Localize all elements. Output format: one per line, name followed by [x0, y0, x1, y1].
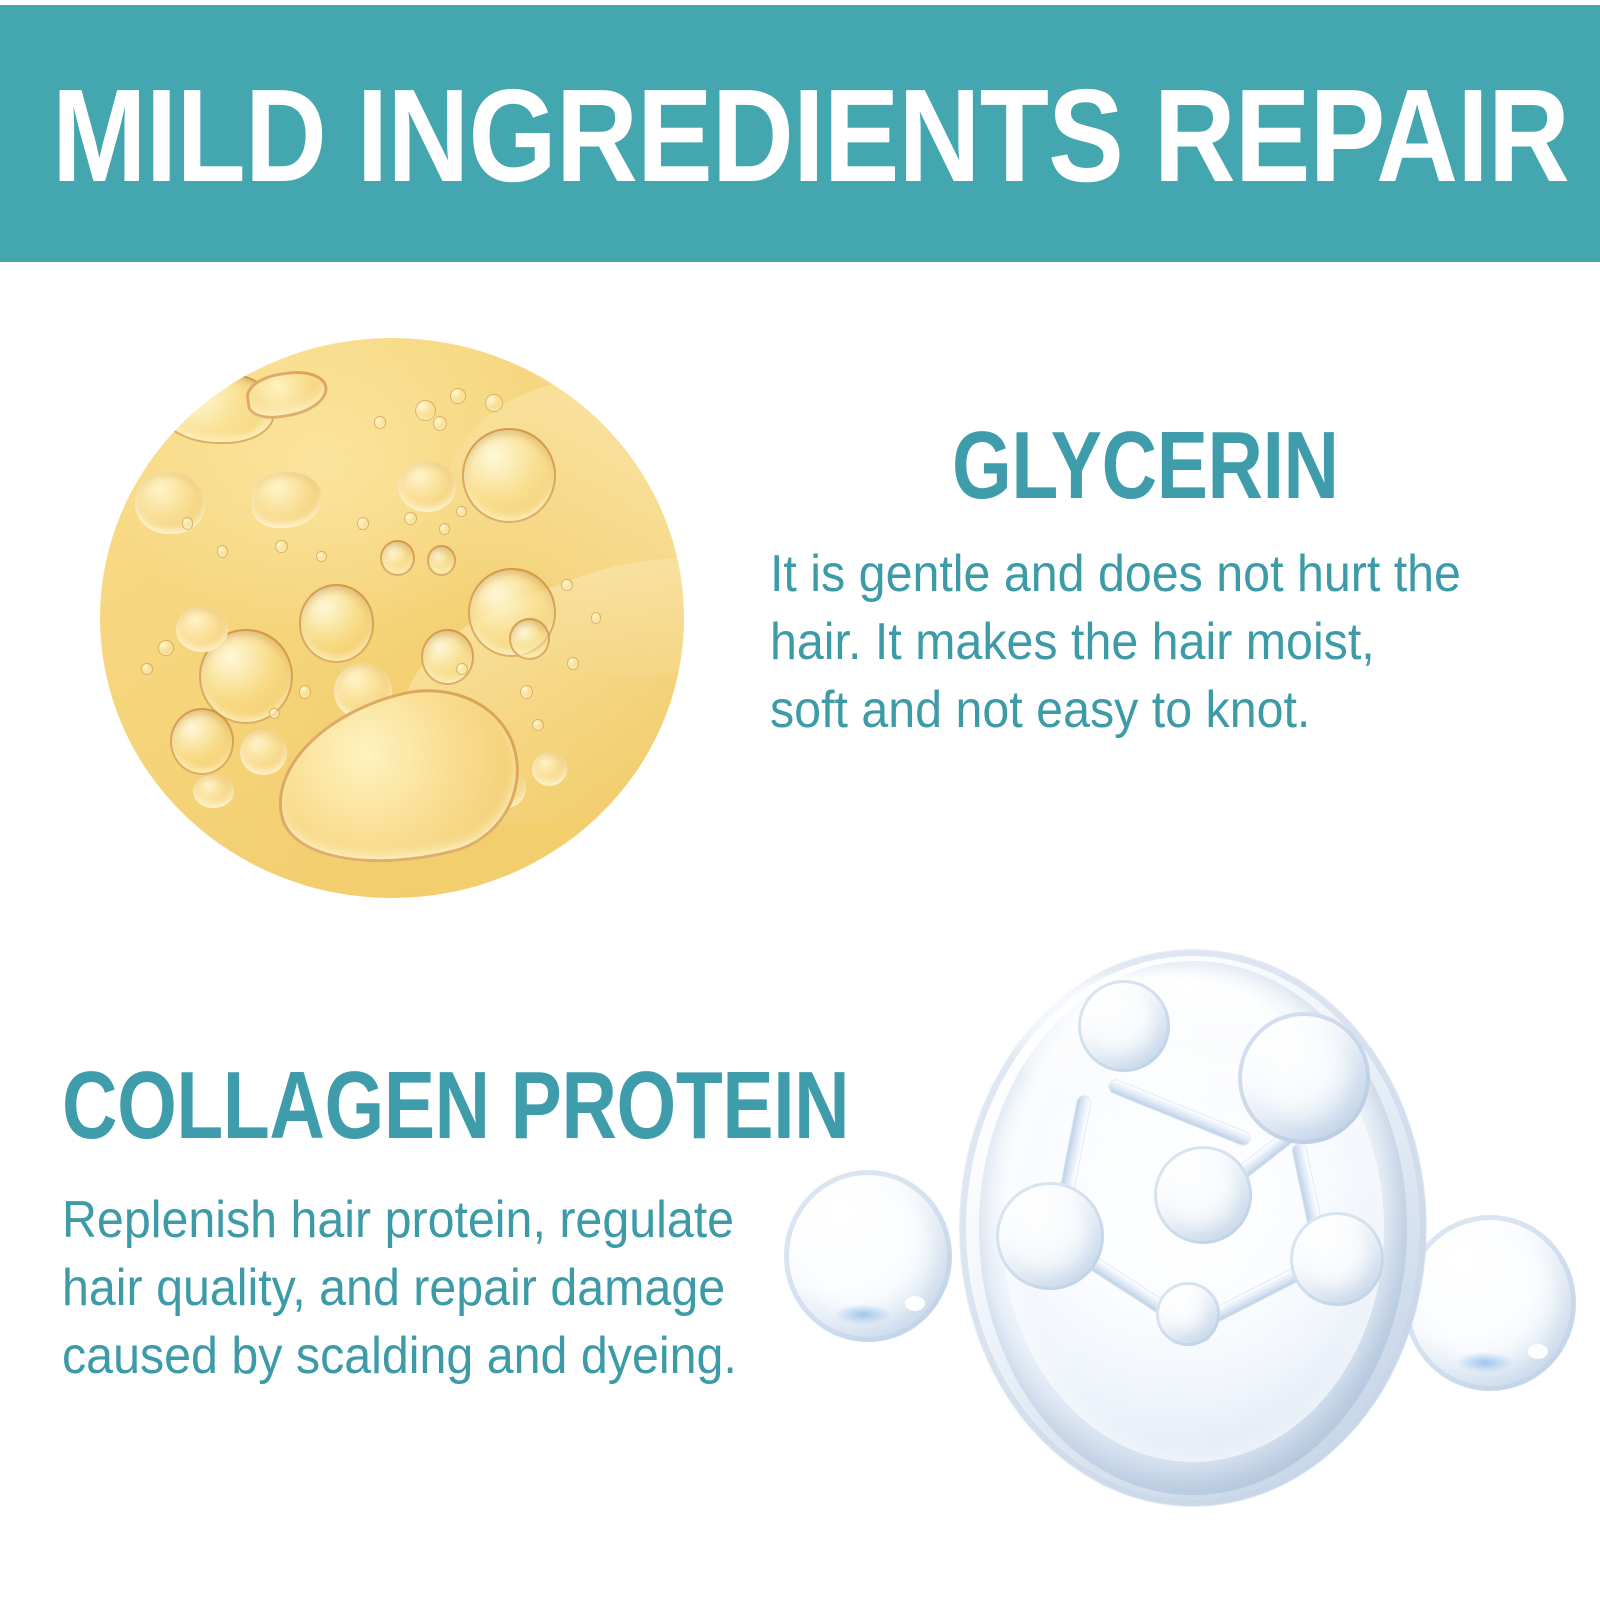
oil-bubble-small — [450, 388, 465, 404]
oil-bubble-small — [567, 657, 579, 669]
molecule-sphere-image — [770, 930, 1590, 1530]
oil-bubble-small — [374, 416, 386, 428]
section-heading-glycerin: GLYCERIN — [952, 418, 1339, 514]
body-line: hair quality, and repair damage — [62, 1254, 825, 1322]
satellite-bubble-left — [784, 1170, 952, 1342]
molecule-atom — [1156, 1282, 1220, 1346]
oil-bubble-small — [485, 394, 503, 412]
oil-droplet — [193, 775, 234, 809]
bubble-blue-tint — [1456, 1352, 1514, 1373]
molecule-atom — [1238, 1012, 1370, 1144]
main-sphere — [960, 950, 1426, 1506]
section-heading-collagen-protein: COLLAGEN PROTEIN — [62, 1058, 849, 1154]
oil-bubble-small — [141, 663, 153, 675]
oil-bubble-small — [520, 685, 533, 698]
bubble-glint — [905, 1296, 925, 1311]
body-line: soft and not easy to knot. — [770, 676, 1570, 744]
oil-bubble-small — [404, 512, 417, 525]
oil-droplet — [176, 607, 229, 652]
oil-droplet — [135, 472, 205, 534]
oil-bubble-small — [357, 517, 369, 529]
body-line: It is gentle and does not hurt the — [770, 540, 1570, 608]
oil-bubble-small — [561, 579, 573, 591]
oil-droplet — [240, 730, 287, 775]
oil-bubble — [509, 618, 550, 660]
oil-bubble-small — [217, 545, 229, 557]
body-line: caused by scalding and dyeing. — [62, 1322, 825, 1390]
page-title: MILD INGREDIENTS REPAIR HAIR — [52, 75, 1351, 197]
bubble-glint — [1528, 1344, 1549, 1360]
oil-bubble-small — [182, 517, 194, 529]
oil-bubble-small — [316, 551, 327, 562]
oil-bubble — [427, 545, 456, 576]
oil-droplet — [398, 461, 456, 511]
infographic-page: MILD INGREDIENTS REPAIR HAIR — [0, 0, 1600, 1600]
oil-bubble-small — [415, 400, 436, 421]
molecule-atom — [996, 1182, 1104, 1290]
oil-bubble-small — [269, 708, 280, 719]
oil-bubble-small — [532, 719, 544, 731]
body-line: hair. It makes the hair moist, — [770, 608, 1570, 676]
bubble-blue-tint — [834, 1304, 891, 1325]
oil-bubble-small — [433, 416, 447, 431]
molecule-atom — [1290, 1212, 1384, 1306]
oil-bubble-small — [456, 663, 468, 675]
oil-droplet — [532, 752, 567, 786]
oil-bubble-small — [591, 612, 602, 623]
section-body-collagen-protein: Replenish hair protein, regulate hair qu… — [62, 1186, 825, 1390]
oil-bubble — [170, 708, 234, 775]
oil-bubble — [299, 584, 375, 662]
satellite-bubble-right — [1404, 1215, 1576, 1391]
oil-blob-small — [243, 366, 330, 422]
body-line: Replenish hair protein, regulate — [62, 1186, 825, 1254]
molecule-atom — [1078, 980, 1170, 1072]
molecule-atom-center — [1154, 1146, 1252, 1244]
oil-bubble — [462, 428, 555, 523]
oil-bubble-small — [456, 506, 467, 517]
oil-droplets-image — [100, 338, 684, 898]
oil-bubble — [421, 629, 474, 685]
oil-bubble — [380, 540, 415, 576]
section-body-glycerin: It is gentle and does not hurt the hair.… — [770, 540, 1570, 744]
oil-droplet — [252, 472, 322, 528]
oil-bubble-small — [158, 640, 173, 656]
header-banner: MILD INGREDIENTS REPAIR HAIR — [0, 5, 1600, 262]
oil-bubble-small — [299, 685, 312, 698]
oil-bubble-small — [275, 540, 288, 553]
